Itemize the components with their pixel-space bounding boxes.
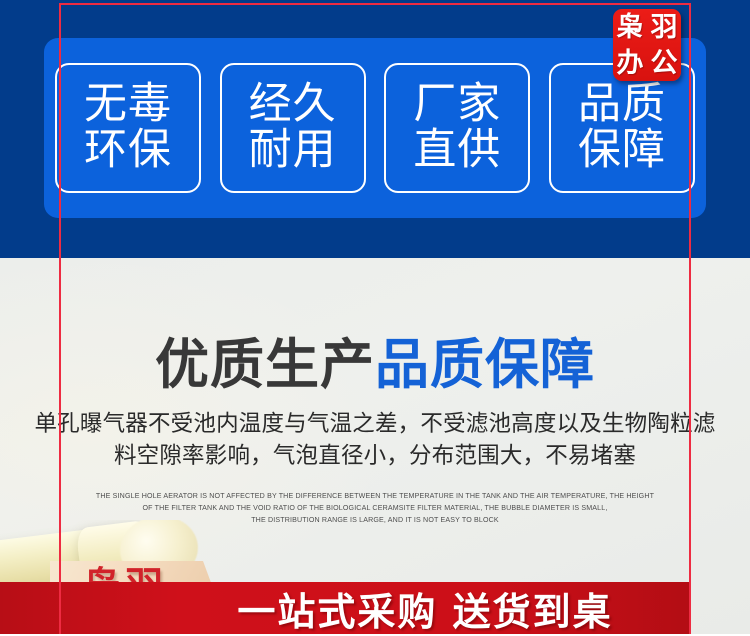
feature-box-quality-assured[interactable]: 品质 保障: [549, 63, 695, 193]
stamp-char-2: 羽: [651, 14, 678, 41]
feature-line-2: 保障: [578, 128, 666, 174]
feature-panel: 无毒 环保 经久 耐用 厂家 直供 品质 保障: [44, 38, 706, 218]
page-title-dark-part: 优质生产: [155, 333, 375, 396]
stamp-char-3: 办: [617, 50, 644, 77]
feature-line-1: 厂家: [413, 82, 501, 128]
feature-line-2: 直供: [413, 128, 501, 174]
guide-line-left: [59, 3, 61, 634]
hero-banner: 无毒 环保 经久 耐用 厂家 直供 品质 保障 枭 羽 办 公: [0, 0, 750, 258]
page-title-blue-part: 品质保障: [375, 333, 595, 396]
feature-line-1: 品质: [578, 82, 666, 128]
feature-box-non-toxic-eco[interactable]: 无毒 环保: [55, 63, 201, 193]
description-chinese: 单孔曝气器不受池内温度与气温之差，不受滤池高度以及生物陶粒滤 料空隙率影响，气泡…: [5, 408, 745, 473]
description-en-line-1: THE SINGLE HOLE AERATOR IS NOT AFFECTED …: [85, 490, 665, 502]
description-cn-line-1: 单孔曝气器不受池内温度与气温之差，不受滤池高度以及生物陶粒滤: [5, 408, 745, 440]
stamp-char-4: 公: [651, 50, 678, 77]
footer-banner: 一站式采购 送货到桌: [0, 582, 690, 634]
feature-line-2: 环保: [84, 128, 172, 174]
feature-box-durable[interactable]: 经久 耐用: [220, 63, 366, 193]
main-content: 优质生产品质保障 单孔曝气器不受池内温度与气温之差，不受滤池高度以及生物陶粒滤 …: [0, 258, 750, 634]
description-cn-line-2: 料空隙率影响，气泡直径小，分布范围大，不易堵塞: [5, 440, 745, 472]
guide-line-right: [689, 3, 691, 634]
feature-line-2: 耐用: [249, 128, 337, 174]
feature-line-1: 经久: [249, 82, 337, 128]
feature-line-1: 无毒: [84, 82, 172, 128]
feature-row: 无毒 环保 经久 耐用 厂家 直供 品质 保障: [44, 38, 706, 218]
stamp-char-1: 枭: [617, 14, 644, 41]
guide-line-top: [59, 3, 691, 5]
description-en-line-2: OF THE FILTER TANK AND THE VOID RATIO OF…: [85, 502, 665, 514]
feature-box-factory-direct[interactable]: 厂家 直供: [384, 63, 530, 193]
page-title: 优质生产品质保障: [0, 320, 750, 399]
xiaoyu-office-stamp-icon: 枭 羽 办 公: [613, 9, 681, 81]
footer-slogan: 一站式采购 送货到桌: [190, 582, 660, 634]
